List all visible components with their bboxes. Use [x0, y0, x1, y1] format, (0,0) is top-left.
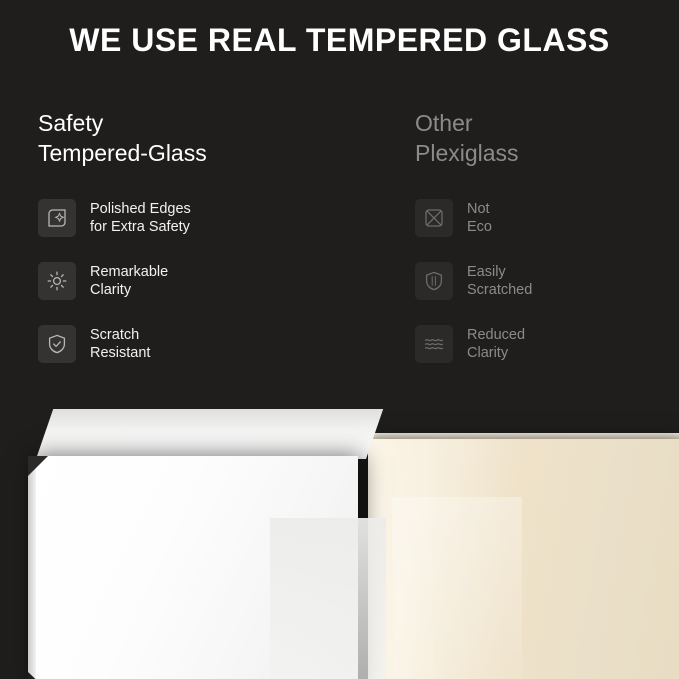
crossed-out-square-icon	[415, 199, 453, 237]
polished-corner-icon	[38, 199, 76, 237]
feature-label: Reduced Clarity	[467, 326, 525, 362]
feature-list-left: Polished Edges for Extra Safety Remarkab…	[38, 198, 368, 364]
feature-not-eco: Not Eco	[415, 198, 675, 238]
page-title: WE USE REAL TEMPERED GLASS	[0, 20, 679, 60]
feature-polished-edges: Polished Edges for Extra Safety	[38, 198, 368, 238]
column-safety-tempered-glass: Safety Tempered-Glass Polished Edges for…	[38, 108, 368, 387]
product-photo	[0, 400, 679, 679]
tempered-glass-panel	[28, 456, 358, 679]
feature-label: Not Eco	[467, 200, 492, 236]
feature-list-right: Not Eco Easily Scratched	[415, 198, 675, 364]
column-other-plexiglass: Other Plexiglass Not Eco	[415, 108, 675, 387]
feature-label: Scratch Resistant	[90, 326, 150, 362]
shield-check-icon	[38, 325, 76, 363]
tempered-glass-top-bevel	[36, 409, 383, 459]
column-title-left: Safety Tempered-Glass	[38, 108, 368, 168]
plexiglass-inner-sheet	[392, 497, 522, 679]
feature-easily-scratched: Easily Scratched	[415, 261, 675, 301]
infographic-page: WE USE REAL TEMPERED GLASS Safety Temper…	[0, 0, 679, 679]
column-title-right: Other Plexiglass	[415, 108, 675, 168]
plexiglass-panel	[368, 439, 679, 679]
scratched-shield-icon	[415, 262, 453, 300]
wavy-lines-icon	[415, 325, 453, 363]
feature-scratch-resistant: Scratch Resistant	[38, 324, 368, 364]
feature-label: Polished Edges for Extra Safety	[90, 200, 191, 236]
feature-remarkable-clarity: Remarkable Clarity	[38, 261, 368, 301]
tempered-glass-left-edge	[28, 456, 36, 679]
feature-label: Remarkable Clarity	[90, 263, 168, 299]
tempered-glass-inner-sheet	[270, 518, 386, 679]
feature-label: Easily Scratched	[467, 263, 532, 299]
clarity-sun-icon	[38, 262, 76, 300]
feature-reduced-clarity: Reduced Clarity	[415, 324, 675, 364]
